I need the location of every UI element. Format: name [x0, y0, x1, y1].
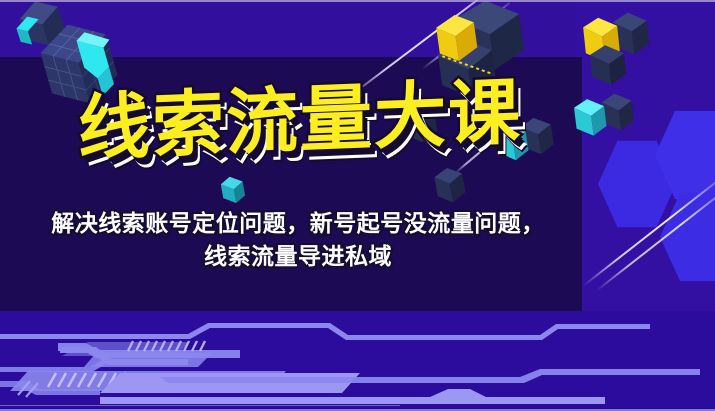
cube-title-lower-icon — [432, 162, 476, 208]
course-poster: 线索流量大课 解决线索账号定位问题，新号起号没流量问题，线索流量导进私域 — [0, 0, 715, 411]
top-border-line — [0, 0, 715, 2]
cube-title-small-icon — [398, 96, 450, 150]
cube-top-left-large-icon — [28, 12, 138, 122]
poster-subtitle: 解决线索账号定位问题，新号起号没流量问题，线索流量导进私域 — [48, 208, 548, 275]
cube-top-right-yellow-icon — [572, 10, 662, 96]
cube-top-center-yellow-icon — [420, 2, 538, 102]
cube-near-title-cyan-icon — [494, 118, 564, 176]
poster-subtitle-container: 解决线索账号定位问题，新号起号没流量问题，线索流量导进私域 — [48, 208, 548, 275]
cube-title-bottom-cyan-icon — [218, 172, 252, 208]
cube-mid-right-cyan-icon — [568, 92, 644, 152]
circuit-decoration-band — [0, 311, 715, 411]
